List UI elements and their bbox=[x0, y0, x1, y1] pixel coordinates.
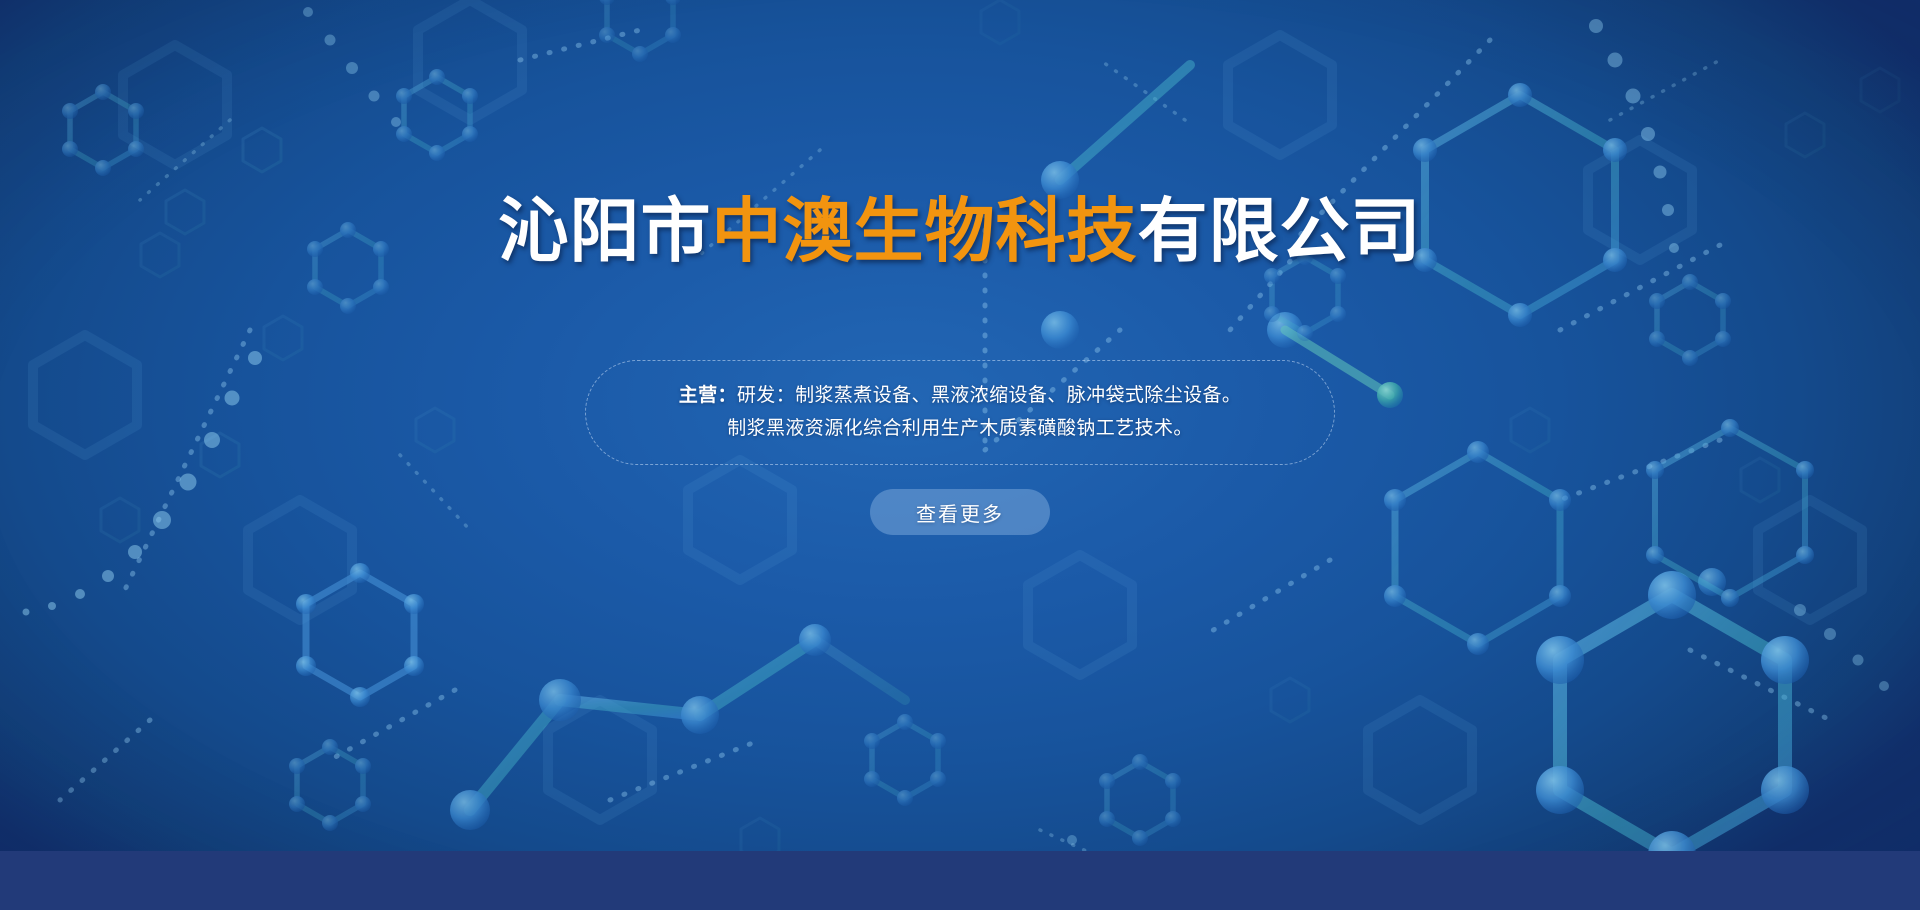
page-title: 沁阳市中澳生物科技有限公司 bbox=[0, 196, 1920, 266]
title-segment-brand: 中澳生物科技 bbox=[712, 192, 1138, 270]
view-more-button[interactable]: 查看更多 bbox=[870, 489, 1050, 535]
subtitle-dashed-box: 主营：研发：制浆蒸煮设备、黑液浓缩设备、脉冲袋式除尘设备。 制浆黑液资源化综合利… bbox=[585, 360, 1335, 465]
title-segment-suffix: 有限公司 bbox=[1138, 192, 1422, 270]
subtitle-line-1-text: 研发：制浆蒸煮设备、黑液浓缩设备、脉冲袋式除尘设备。 bbox=[737, 385, 1241, 406]
subtitle-lead-label: 主营： bbox=[679, 385, 737, 406]
subtitle-line-1: 主营：研发：制浆蒸煮设备、黑液浓缩设备、脉冲袋式除尘设备。 bbox=[679, 384, 1242, 408]
hero-content: 沁阳市中澳生物科技有限公司 主营：研发：制浆蒸煮设备、黑液浓缩设备、脉冲袋式除尘… bbox=[0, 0, 1920, 910]
subtitle-line-2: 制浆黑液资源化综合利用生产木质素磺酸钠工艺技术。 bbox=[727, 417, 1193, 441]
bottom-bar bbox=[0, 851, 1920, 910]
hero-banner: 沁阳市中澳生物科技有限公司 主营：研发：制浆蒸煮设备、黑液浓缩设备、脉冲袋式除尘… bbox=[0, 0, 1920, 910]
title-segment-prefix: 沁阳市 bbox=[499, 192, 712, 270]
